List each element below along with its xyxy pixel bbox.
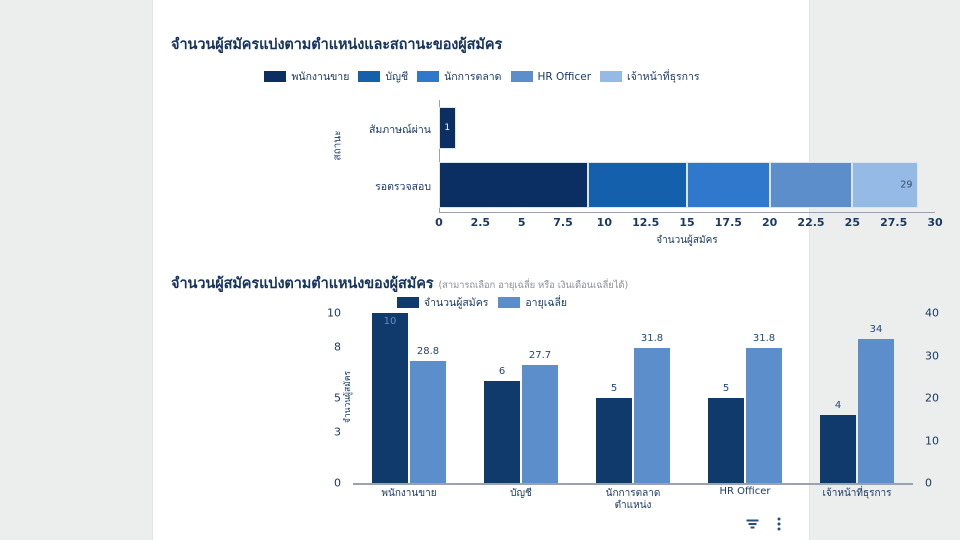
dashboard-card: จำนวนผู้สมัครแบ่งตามตำแหน่งและสถานะของผู… (152, 0, 810, 540)
chart2-bar[interactable]: 6 (484, 381, 520, 483)
chart2-bar-group[interactable]: 531.8 (577, 313, 689, 483)
chart1-legend-item-2[interactable]: นักการตลาด (417, 68, 501, 85)
dashboard-page: จำนวนผู้สมัครแบ่งตามตำแหน่งและสถานะของผู… (0, 0, 960, 540)
chart1-x-tick: 27.5 (880, 216, 907, 229)
chart2-bar-value: 6 (499, 366, 505, 377)
chart2-subtitle: (สามารถเลือก อายุเฉลี่ย หรือ เงินเดือนเฉ… (438, 280, 628, 291)
chart1-x-tick: 2.5 (471, 216, 491, 229)
chart2-y-tick-left: 8 (311, 341, 341, 354)
chart1-legend-label-2: นักการตลาด (444, 68, 501, 85)
chart1-legend-label-3: HR Officer (538, 71, 592, 83)
chart1-bar-total: 29 (900, 180, 912, 191)
chart2-bar[interactable]: 10 (372, 313, 408, 483)
chart1-x-tick: 5 (518, 216, 526, 229)
chart2-y-tick-right: 20 (925, 392, 955, 405)
chart1-legend-item-4[interactable]: เจ้าหน้าที่ธุรการ (600, 68, 700, 85)
chart1-x-tick: 10 (597, 216, 612, 229)
chart2-bar-value: 31.8 (753, 333, 775, 344)
chart2-bar-value: 27.7 (529, 350, 551, 361)
chart1-y-category: สัมภาษณ์ผ่าน (311, 121, 431, 138)
chart2-legend-item-1[interactable]: อายุเฉลี่ย (498, 294, 567, 311)
chart2-y-tick-right: 40 (925, 307, 955, 320)
chart2-plot: 1028.8627.7531.8531.8434 (353, 313, 913, 483)
chart2-x-category: เจ้าหน้าที่ธุรการ (822, 486, 891, 501)
chart2-x-category: พนักงานขาย (381, 486, 436, 501)
chart2-bar[interactable]: 4 (820, 415, 856, 483)
chart-footer-toolbar (746, 516, 781, 535)
chart1-legend-label-4: เจ้าหน้าที่ธุรการ (627, 68, 700, 85)
chart2-title: จำนวนผู้สมัครแบ่งตามตำแหน่งของผู้สมัคร (… (171, 272, 628, 295)
chart1-legend-swatch-3 (511, 71, 533, 82)
chart2-y-tick-right: 10 (925, 434, 955, 447)
chart2-bar-value: 5 (723, 383, 729, 394)
chart1-x-ticks: 02.557.51012.51517.52022.52527.530 (439, 216, 935, 232)
chart1-x-tick: 0 (435, 216, 443, 229)
chart2-bar[interactable]: 34 (858, 339, 894, 484)
chart1-title: จำนวนผู้สมัครแบ่งตามตำแหน่งและสถานะของผู… (171, 33, 502, 56)
chart2-legend: จำนวนผู้สมัครอายุเฉลี่ย (153, 294, 811, 311)
chart1-legend-swatch-0 (264, 71, 286, 82)
chart2-bar-group[interactable]: 434 (801, 313, 913, 483)
chart1-y-category: รอตรวจสอบ (311, 178, 431, 195)
chart1-bar-row[interactable]: 29 (439, 162, 918, 208)
chart2-bar[interactable]: 28.8 (410, 361, 446, 483)
chart2-y-tick-right: 30 (925, 349, 955, 362)
chart1-x-tick: 17.5 (715, 216, 742, 229)
chart1-segment[interactable] (439, 162, 588, 208)
chart2-y-tick-left: 5 (311, 392, 341, 405)
chart1-x-tick: 7.5 (553, 216, 573, 229)
chart2-bar-value: 28.8 (417, 346, 439, 357)
chart1-x-tick: 30 (927, 216, 942, 229)
chart2-bar[interactable]: 27.7 (522, 365, 558, 483)
chart2-legend-swatch-0 (397, 297, 419, 308)
chart2-baseline (353, 483, 913, 485)
chart2-bar-group[interactable]: 627.7 (465, 313, 577, 483)
chart1-segment[interactable] (687, 162, 770, 208)
more-vertical-icon[interactable] (777, 516, 781, 535)
chart1-x-axis-line (439, 212, 935, 213)
chart2-bar-value: 5 (611, 383, 617, 394)
chart2-title-text: จำนวนผู้สมัครแบ่งตามตำแหน่งของผู้สมัคร (171, 276, 434, 292)
filter-icon[interactable] (746, 516, 759, 535)
chart1-legend-label-0: พนักงานขาย (291, 68, 349, 85)
chart1-x-tick: 15 (679, 216, 694, 229)
chart1-legend-swatch-4 (600, 71, 622, 82)
chart2-legend-item-0[interactable]: จำนวนผู้สมัคร (397, 294, 488, 311)
chart1-x-axis-label: จำนวนผู้สมัคร (439, 233, 935, 248)
chart2-y-tick-left: 3 (311, 426, 341, 439)
chart2-bar-group[interactable]: 1028.8 (353, 313, 465, 483)
chart2-y-axis-label: จำนวนผู้สมัคร (340, 371, 354, 423)
chart1-legend: พนักงานขายบัญชีนักการตลาดHR Officerเจ้าห… (153, 68, 811, 85)
chart2-legend-label-1: อายุเฉลี่ย (525, 294, 567, 311)
chart1-segment[interactable]: 29 (852, 162, 918, 208)
chart2-legend-label-0: จำนวนผู้สมัคร (424, 294, 488, 311)
chart1-x-tick: 20 (762, 216, 777, 229)
chart2-bar[interactable]: 5 (708, 398, 744, 483)
chart1-bar-value: 1 (444, 123, 450, 133)
chart2-bar[interactable]: 5 (596, 398, 632, 483)
chart2-x-category: นักการตลาด (606, 486, 661, 501)
chart1-legend-swatch-1 (358, 71, 380, 82)
chart2-x-category: บัญชี (510, 486, 532, 501)
chart2-bar[interactable]: 31.8 (746, 348, 782, 483)
chart1-x-tick: 22.5 (797, 216, 824, 229)
chart1-bar-row[interactable]: 1 (439, 107, 456, 149)
chart2-bar[interactable]: 31.8 (634, 348, 670, 483)
chart2-y-tick-left: 0 (311, 477, 341, 490)
chart2-x-category: HR Officer (720, 486, 771, 497)
chart1-x-tick: 12.5 (632, 216, 659, 229)
chart2-bar-value: 10 (384, 316, 397, 327)
chart1-x-tick: 25 (845, 216, 860, 229)
chart1-segment[interactable] (770, 162, 853, 208)
chart1-segment[interactable] (588, 162, 687, 208)
chart1-legend-item-0[interactable]: พนักงานขาย (264, 68, 349, 85)
chart2-bar-value: 4 (835, 400, 841, 411)
chart1-segment[interactable]: 1 (439, 107, 456, 149)
chart2-bar-group[interactable]: 531.8 (689, 313, 801, 483)
chart1-legend-item-1[interactable]: บัญชี (358, 68, 408, 85)
chart2-bar-value: 31.8 (641, 333, 663, 344)
chart2-y-tick-left: 10 (311, 307, 341, 320)
chart2-bar-value: 34 (870, 324, 883, 335)
chart2-legend-swatch-1 (498, 297, 520, 308)
chart1-legend-item-3[interactable]: HR Officer (511, 71, 592, 83)
chart1-legend-label-1: บัญชี (385, 68, 408, 85)
chart1-legend-swatch-2 (417, 71, 439, 82)
chart2-y-tick-right: 0 (925, 477, 955, 490)
